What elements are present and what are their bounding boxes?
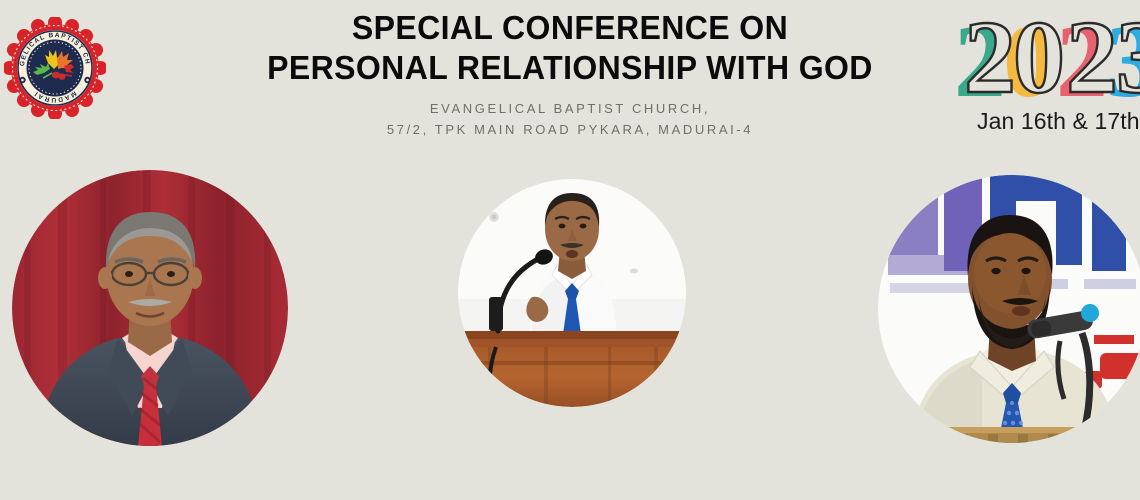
church-logo: EVANGELICAL BAPTIST CHURCH MADURAI <box>4 17 106 119</box>
speaker-card-3: Pastor Mark <box>878 175 1140 443</box>
year-digit-2-outline: 0 <box>1013 14 1065 106</box>
conference-poster: EVANGELICAL BAPTIST CHURCH MADURAI S <box>0 0 1140 500</box>
address-line-1: EVANGELICAL BAPTIST CHURCH, <box>150 98 990 119</box>
year-digit-1-outline: 2 <box>964 14 1016 106</box>
event-date: Jan 16th & 17th <box>977 108 1140 135</box>
speaker-photo-2 <box>458 179 686 407</box>
speaker-card-1: Pastor David Elangovan <box>12 170 288 446</box>
year-2023-graphic: 2 0 2 3 2 0 2 3 <box>955 14 1140 106</box>
poster-title: SPECIAL CONFERENCE ON PERSONAL RELATIONS… <box>150 8 990 88</box>
speaker-photo-1 <box>12 170 288 446</box>
year-digit-3-outline: 2 <box>1066 14 1118 106</box>
title-line-2: PERSONAL RELATIONSHIP WITH GOD <box>163 48 978 88</box>
address-line-2: 57/2, TPK MAIN ROAD PYKARA, MADURAI-4 <box>150 119 990 140</box>
year-digit-4-outline: 3 <box>1116 14 1140 106</box>
title-line-1: SPECIAL CONFERENCE ON <box>163 8 978 48</box>
speaker-card-2: Pastor Stephenson <box>458 179 686 407</box>
venue-address: EVANGELICAL BAPTIST CHURCH, 57/2, TPK MA… <box>150 98 990 140</box>
speaker-photo-3 <box>878 175 1140 443</box>
